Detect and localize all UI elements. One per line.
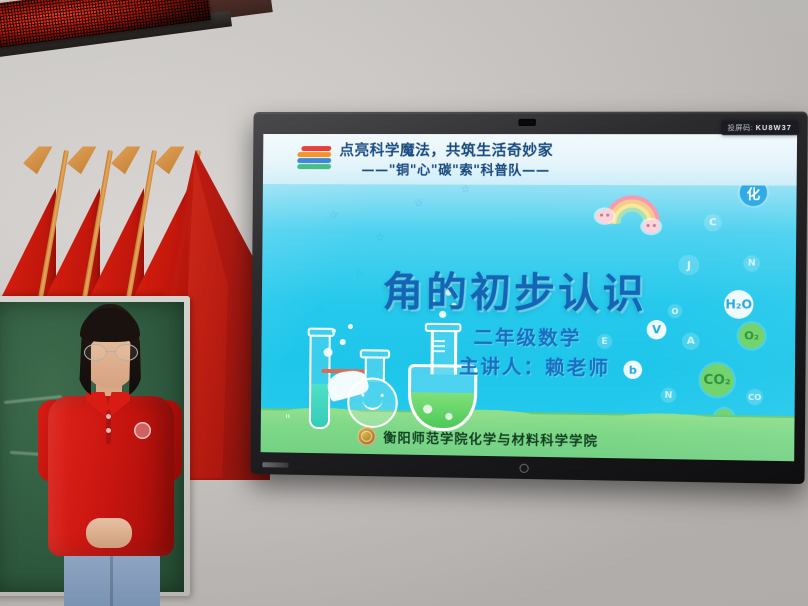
star-icon: ☆ — [375, 231, 385, 244]
shirt-logo-icon — [134, 422, 151, 439]
slide-title: 角的初步认识 — [382, 259, 647, 320]
presenter-jeans — [64, 550, 160, 606]
chem-badge-j: J — [678, 255, 699, 276]
presenter-person — [30, 300, 190, 606]
presentation-slide[interactable]: ☆☆☆☆☆☆ 化H₂OCJNOVO₂EAbCO₂NCO△ — [261, 134, 797, 461]
ribbon-logo-icon — [297, 144, 333, 174]
brand-logo — [262, 462, 288, 467]
star-icon: ☆ — [354, 267, 364, 280]
cast-code-value: KU8W37 — [756, 125, 792, 132]
test-tube-icon — [309, 329, 331, 430]
star-icon: ☆ — [414, 197, 424, 210]
chem-badge-v: V — [647, 320, 667, 340]
university-logo-icon — [357, 427, 376, 446]
chem-badge-n: N — [661, 387, 677, 403]
chem-badge-n: N — [743, 255, 760, 272]
winged-flask-icon — [347, 377, 398, 428]
slide-footer: 衡阳师范学院化学与材料科学学院 — [357, 427, 598, 450]
quote-mark: " — [285, 412, 291, 426]
university-name: 衡阳师范学院化学与材料科学学院 — [383, 427, 598, 450]
rainbow-icon — [598, 193, 658, 228]
chem-badge-e: E — [597, 334, 613, 349]
classroom-photo: 投屏码: KU8W37 ☆☆☆☆☆☆ 化H₂OCJNOVO₂EAbCO₂NCO△ — [0, 0, 808, 606]
cast-code-label: 投屏码: — [727, 125, 753, 132]
chem-badge-o: O — [668, 304, 683, 318]
chem-badge-co: CO — [746, 389, 763, 406]
chem-badge-c: C — [704, 214, 722, 231]
slide-header-line1: 点亮科学魔法，共筑生活奇妙家 — [339, 139, 553, 160]
chem-badge-b: b — [623, 360, 642, 379]
eyeglasses-icon — [84, 344, 138, 359]
chem-badge-o: O₂ — [738, 323, 764, 349]
slide-subtitle-grade: 二年级数学 — [473, 322, 581, 351]
interactive-smartboard[interactable]: 投屏码: KU8W37 ☆☆☆☆☆☆ 化H₂OCJNOVO₂EAbCO₂NCO△ — [250, 112, 807, 485]
power-button[interactable] — [519, 464, 528, 473]
cast-code-badge: 投屏码: KU8W37 — [721, 121, 798, 135]
chem-badge-ho: H₂O — [724, 290, 754, 319]
lab-glassware-illustration — [291, 308, 484, 431]
chem-badge-co: CO₂ — [700, 363, 734, 396]
presenter-hands — [86, 518, 132, 548]
camera-icon — [518, 119, 536, 126]
slide-subtitle-speaker: 主讲人：赖老师 — [459, 351, 610, 380]
chem-badge-a: A — [682, 333, 700, 351]
star-icon: ☆ — [329, 208, 339, 221]
slide-header-line2: ——"铜"心"碳"索"科普队—— — [361, 159, 549, 179]
